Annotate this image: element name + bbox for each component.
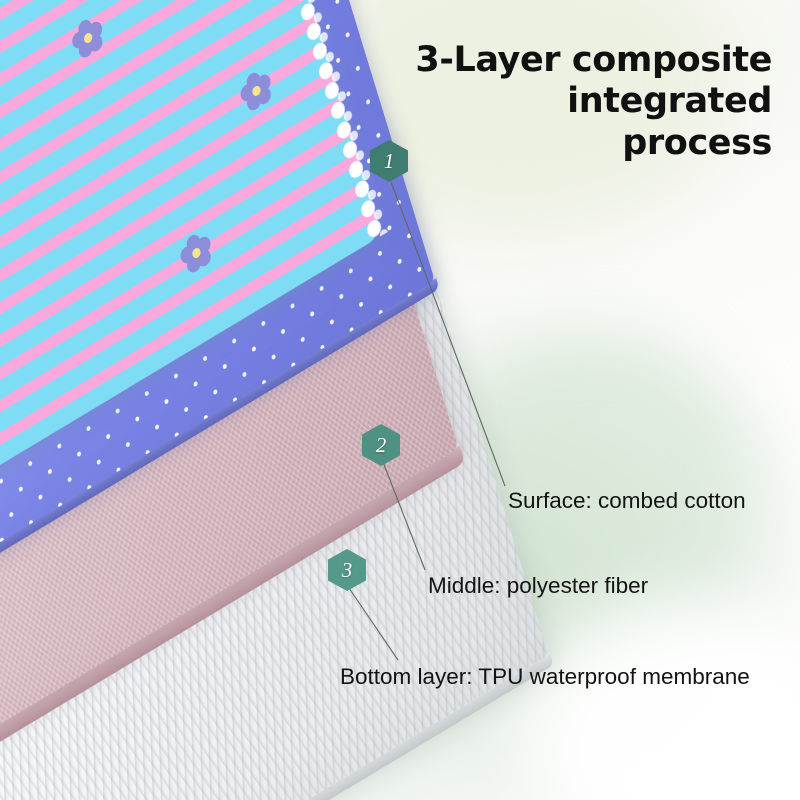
infographic-canvas: Established STARBUCKS COFFEE Established… bbox=[0, 0, 800, 800]
background-blob-bottom-right bbox=[520, 600, 800, 800]
page-title-line-1: 3-Layer composite integrated bbox=[252, 40, 772, 123]
page-title: 3-Layer composite integrated process bbox=[252, 40, 772, 164]
layer-badge-3-number: 3 bbox=[342, 558, 353, 583]
label-middle-polyester-fiber: Middle: polyester fiber bbox=[428, 573, 648, 599]
label-bottom-tpu-membrane: Bottom layer: TPU waterproof membrane bbox=[340, 664, 750, 690]
page-title-line-2: process bbox=[252, 123, 772, 164]
label-surface-combed-cotton: Surface: combed cotton bbox=[508, 488, 746, 514]
layer-badge-2-number: 2 bbox=[376, 433, 387, 458]
